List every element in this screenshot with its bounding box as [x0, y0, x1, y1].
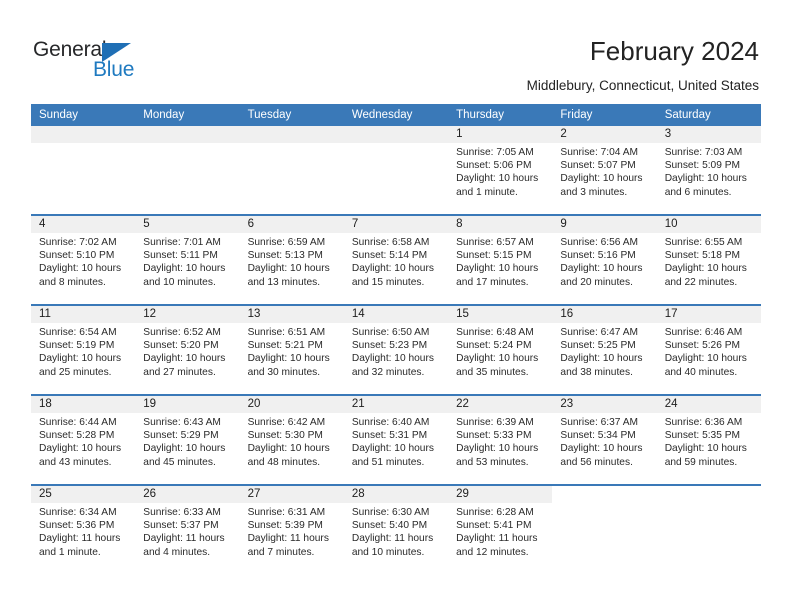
- calendar-cell[interactable]: 7 Sunrise: 6:58 AM Sunset: 5:14 PM Dayli…: [344, 215, 448, 305]
- sunset-text: Sunset: 5:21 PM: [248, 339, 338, 352]
- day-number: 18: [31, 396, 135, 413]
- calendar-cell[interactable]: 28 Sunrise: 6:30 AM Sunset: 5:40 PM Dayl…: [344, 485, 448, 574]
- day-cell: 10 Sunrise: 6:55 AM Sunset: 5:18 PM Dayl…: [657, 216, 761, 304]
- daylight-text-line2: and 35 minutes.: [456, 366, 546, 379]
- day-cell: 21 Sunrise: 6:40 AM Sunset: 5:31 PM Dayl…: [344, 396, 448, 484]
- day-cell: 14 Sunrise: 6:50 AM Sunset: 5:23 PM Dayl…: [344, 306, 448, 394]
- sunrise-text: Sunrise: 6:37 AM: [560, 416, 650, 429]
- daylight-text-line1: Daylight: 10 hours: [456, 262, 546, 275]
- day-cell: 1 Sunrise: 7:05 AM Sunset: 5:06 PM Dayli…: [448, 126, 552, 214]
- day-info: Sunrise: 6:52 AM Sunset: 5:20 PM Dayligh…: [135, 323, 239, 379]
- day-number: 13: [240, 306, 344, 323]
- sunset-text: Sunset: 5:20 PM: [143, 339, 233, 352]
- daylight-text-line2: and 17 minutes.: [456, 276, 546, 289]
- day-info: Sunrise: 6:48 AM Sunset: 5:24 PM Dayligh…: [448, 323, 552, 379]
- day-number: 16: [552, 306, 656, 323]
- day-cell: 27 Sunrise: 6:31 AM Sunset: 5:39 PM Dayl…: [240, 486, 344, 574]
- daylight-text-line1: Daylight: 10 hours: [39, 352, 129, 365]
- day-number: 22: [448, 396, 552, 413]
- sunset-text: Sunset: 5:33 PM: [456, 429, 546, 442]
- calendar-cell[interactable]: 16 Sunrise: 6:47 AM Sunset: 5:25 PM Dayl…: [552, 305, 656, 395]
- daylight-text-line1: Daylight: 11 hours: [39, 532, 129, 545]
- daylight-text-line2: and 40 minutes.: [665, 366, 755, 379]
- sunset-text: Sunset: 5:41 PM: [456, 519, 546, 532]
- daylight-text-line1: Daylight: 10 hours: [665, 172, 755, 185]
- sunset-text: Sunset: 5:10 PM: [39, 249, 129, 262]
- calendar-cell[interactable]: 24 Sunrise: 6:36 AM Sunset: 5:35 PM Dayl…: [657, 395, 761, 485]
- daylight-text-line1: Daylight: 11 hours: [248, 532, 338, 545]
- calendar-cell[interactable]: 18 Sunrise: 6:44 AM Sunset: 5:28 PM Dayl…: [31, 395, 135, 485]
- daylight-text-line2: and 15 minutes.: [352, 276, 442, 289]
- calendar-cell[interactable]: 26 Sunrise: 6:33 AM Sunset: 5:37 PM Dayl…: [135, 485, 239, 574]
- weekday-header-thursday: Thursday: [448, 104, 552, 126]
- sunrise-text: Sunrise: 6:54 AM: [39, 326, 129, 339]
- calendar-cell[interactable]: 10 Sunrise: 6:55 AM Sunset: 5:18 PM Dayl…: [657, 215, 761, 305]
- daylight-text-line1: Daylight: 10 hours: [456, 172, 546, 185]
- day-cell: 13 Sunrise: 6:51 AM Sunset: 5:21 PM Dayl…: [240, 306, 344, 394]
- day-cell: 22 Sunrise: 6:39 AM Sunset: 5:33 PM Dayl…: [448, 396, 552, 484]
- sunrise-text: Sunrise: 7:03 AM: [665, 146, 755, 159]
- day-cell-empty: [31, 126, 135, 214]
- sunset-text: Sunset: 5:14 PM: [352, 249, 442, 262]
- day-number: 29: [448, 486, 552, 503]
- day-info: Sunrise: 6:42 AM Sunset: 5:30 PM Dayligh…: [240, 413, 344, 469]
- day-info: Sunrise: 7:04 AM Sunset: 5:07 PM Dayligh…: [552, 143, 656, 199]
- day-cell: 4 Sunrise: 7:02 AM Sunset: 5:10 PM Dayli…: [31, 216, 135, 304]
- sunset-text: Sunset: 5:29 PM: [143, 429, 233, 442]
- sunrise-text: Sunrise: 6:28 AM: [456, 506, 546, 519]
- day-number: [135, 126, 239, 143]
- daylight-text-line2: and 25 minutes.: [39, 366, 129, 379]
- calendar-cell[interactable]: 29 Sunrise: 6:28 AM Sunset: 5:41 PM Dayl…: [448, 485, 552, 574]
- sunset-text: Sunset: 5:36 PM: [39, 519, 129, 532]
- sunrise-text: Sunrise: 6:46 AM: [665, 326, 755, 339]
- day-info: Sunrise: 6:57 AM Sunset: 5:15 PM Dayligh…: [448, 233, 552, 289]
- day-cell: 9 Sunrise: 6:56 AM Sunset: 5:16 PM Dayli…: [552, 216, 656, 304]
- daylight-text-line2: and 4 minutes.: [143, 546, 233, 559]
- page-header: General Blue February 2024 Middlebury, C…: [0, 0, 792, 100]
- calendar-cell[interactable]: [552, 485, 656, 574]
- sunrise-text: Sunrise: 6:34 AM: [39, 506, 129, 519]
- sunrise-text: Sunrise: 6:50 AM: [352, 326, 442, 339]
- sunset-text: Sunset: 5:35 PM: [665, 429, 755, 442]
- calendar-cell[interactable]: [344, 126, 448, 215]
- calendar-cell[interactable]: 6 Sunrise: 6:59 AM Sunset: 5:13 PM Dayli…: [240, 215, 344, 305]
- daylight-text-line1: Daylight: 10 hours: [665, 262, 755, 275]
- sunset-text: Sunset: 5:28 PM: [39, 429, 129, 442]
- day-cell: 3 Sunrise: 7:03 AM Sunset: 5:09 PM Dayli…: [657, 126, 761, 214]
- day-cell: 6 Sunrise: 6:59 AM Sunset: 5:13 PM Dayli…: [240, 216, 344, 304]
- day-cell: 28 Sunrise: 6:30 AM Sunset: 5:40 PM Dayl…: [344, 486, 448, 574]
- day-number: 24: [657, 396, 761, 413]
- weekday-header-wednesday: Wednesday: [344, 104, 448, 126]
- daylight-text-line1: Daylight: 11 hours: [456, 532, 546, 545]
- day-number: 3: [657, 126, 761, 143]
- sunset-text: Sunset: 5:13 PM: [248, 249, 338, 262]
- sunset-text: Sunset: 5:19 PM: [39, 339, 129, 352]
- sunrise-text: Sunrise: 6:30 AM: [352, 506, 442, 519]
- daylight-text-line2: and 8 minutes.: [39, 276, 129, 289]
- day-number: 21: [344, 396, 448, 413]
- daylight-text-line1: Daylight: 11 hours: [352, 532, 442, 545]
- weekday-header-saturday: Saturday: [657, 104, 761, 126]
- sunset-text: Sunset: 5:09 PM: [665, 159, 755, 172]
- day-info: Sunrise: 6:44 AM Sunset: 5:28 PM Dayligh…: [31, 413, 135, 469]
- sunset-text: Sunset: 5:31 PM: [352, 429, 442, 442]
- daylight-text-line1: Daylight: 10 hours: [352, 262, 442, 275]
- day-info: Sunrise: 6:58 AM Sunset: 5:14 PM Dayligh…: [344, 233, 448, 289]
- day-cell: 16 Sunrise: 6:47 AM Sunset: 5:25 PM Dayl…: [552, 306, 656, 394]
- day-cell-blank: [657, 486, 761, 574]
- day-info: Sunrise: 6:40 AM Sunset: 5:31 PM Dayligh…: [344, 413, 448, 469]
- daylight-text-line2: and 3 minutes.: [560, 186, 650, 199]
- weekday-header-friday: Friday: [552, 104, 656, 126]
- weekday-header-row: Sunday Monday Tuesday Wednesday Thursday…: [31, 104, 761, 126]
- daylight-text-line2: and 32 minutes.: [352, 366, 442, 379]
- sunrise-text: Sunrise: 6:47 AM: [560, 326, 650, 339]
- calendar-cell[interactable]: 2 Sunrise: 7:04 AM Sunset: 5:07 PM Dayli…: [552, 126, 656, 215]
- daylight-text-line2: and 38 minutes.: [560, 366, 650, 379]
- calendar-cell[interactable]: 13 Sunrise: 6:51 AM Sunset: 5:21 PM Dayl…: [240, 305, 344, 395]
- day-info: Sunrise: 7:01 AM Sunset: 5:11 PM Dayligh…: [135, 233, 239, 289]
- calendar-cell[interactable]: 12 Sunrise: 6:52 AM Sunset: 5:20 PM Dayl…: [135, 305, 239, 395]
- daylight-text-line1: Daylight: 11 hours: [143, 532, 233, 545]
- day-info: Sunrise: 7:02 AM Sunset: 5:10 PM Dayligh…: [31, 233, 135, 289]
- calendar-cell[interactable]: 21 Sunrise: 6:40 AM Sunset: 5:31 PM Dayl…: [344, 395, 448, 485]
- calendar-cell[interactable]: 1 Sunrise: 7:05 AM Sunset: 5:06 PM Dayli…: [448, 126, 552, 215]
- sunrise-text: Sunrise: 6:57 AM: [456, 236, 546, 249]
- daylight-text-line1: Daylight: 10 hours: [39, 442, 129, 455]
- day-info: Sunrise: 6:55 AM Sunset: 5:18 PM Dayligh…: [657, 233, 761, 289]
- daylight-text-line2: and 10 minutes.: [352, 546, 442, 559]
- sunset-text: Sunset: 5:26 PM: [665, 339, 755, 352]
- calendar-cell[interactable]: 22 Sunrise: 6:39 AM Sunset: 5:33 PM Dayl…: [448, 395, 552, 485]
- day-number: 7: [344, 216, 448, 233]
- day-cell: 18 Sunrise: 6:44 AM Sunset: 5:28 PM Dayl…: [31, 396, 135, 484]
- daylight-text-line2: and 1 minute.: [39, 546, 129, 559]
- daylight-text-line2: and 13 minutes.: [248, 276, 338, 289]
- day-cell: 26 Sunrise: 6:33 AM Sunset: 5:37 PM Dayl…: [135, 486, 239, 574]
- day-number: 2: [552, 126, 656, 143]
- calendar-week-row: 4 Sunrise: 7:02 AM Sunset: 5:10 PM Dayli…: [31, 215, 761, 305]
- sunset-text: Sunset: 5:16 PM: [560, 249, 650, 262]
- daylight-text-line2: and 56 minutes.: [560, 456, 650, 469]
- sunrise-text: Sunrise: 6:56 AM: [560, 236, 650, 249]
- sunrise-text: Sunrise: 6:33 AM: [143, 506, 233, 519]
- daylight-text-line2: and 20 minutes.: [560, 276, 650, 289]
- daylight-text-line1: Daylight: 10 hours: [456, 442, 546, 455]
- daylight-text-line2: and 27 minutes.: [143, 366, 233, 379]
- calendar-cell[interactable]: 5 Sunrise: 7:01 AM Sunset: 5:11 PM Dayli…: [135, 215, 239, 305]
- calendar-week-row: 11 Sunrise: 6:54 AM Sunset: 5:19 PM Dayl…: [31, 305, 761, 395]
- day-number: 25: [31, 486, 135, 503]
- calendar-cell[interactable]: 4 Sunrise: 7:02 AM Sunset: 5:10 PM Dayli…: [31, 215, 135, 305]
- daylight-text-line1: Daylight: 10 hours: [560, 172, 650, 185]
- calendar-week-row: 1 Sunrise: 7:05 AM Sunset: 5:06 PM Dayli…: [31, 126, 761, 215]
- day-cell: 17 Sunrise: 6:46 AM Sunset: 5:26 PM Dayl…: [657, 306, 761, 394]
- calendar-week-row: 25 Sunrise: 6:34 AM Sunset: 5:36 PM Dayl…: [31, 485, 761, 574]
- sunset-text: Sunset: 5:15 PM: [456, 249, 546, 262]
- sunset-text: Sunset: 5:24 PM: [456, 339, 546, 352]
- day-info: Sunrise: 6:34 AM Sunset: 5:36 PM Dayligh…: [31, 503, 135, 559]
- day-number: 19: [135, 396, 239, 413]
- day-number: 26: [135, 486, 239, 503]
- sunrise-text: Sunrise: 6:39 AM: [456, 416, 546, 429]
- daylight-text-line2: and 1 minute.: [456, 186, 546, 199]
- sunset-text: Sunset: 5:37 PM: [143, 519, 233, 532]
- daylight-text-line1: Daylight: 10 hours: [560, 352, 650, 365]
- daylight-text-line2: and 30 minutes.: [248, 366, 338, 379]
- day-cell: 25 Sunrise: 6:34 AM Sunset: 5:36 PM Dayl…: [31, 486, 135, 574]
- day-info: Sunrise: 7:05 AM Sunset: 5:06 PM Dayligh…: [448, 143, 552, 199]
- day-info: Sunrise: 6:37 AM Sunset: 5:34 PM Dayligh…: [552, 413, 656, 469]
- daylight-text-line2: and 48 minutes.: [248, 456, 338, 469]
- daylight-text-line2: and 59 minutes.: [665, 456, 755, 469]
- daylight-text-line1: Daylight: 10 hours: [665, 442, 755, 455]
- sunrise-text: Sunrise: 7:05 AM: [456, 146, 546, 159]
- daylight-text-line1: Daylight: 10 hours: [560, 262, 650, 275]
- day-info: Sunrise: 6:30 AM Sunset: 5:40 PM Dayligh…: [344, 503, 448, 559]
- sunset-text: Sunset: 5:07 PM: [560, 159, 650, 172]
- day-number: 12: [135, 306, 239, 323]
- sunrise-text: Sunrise: 6:51 AM: [248, 326, 338, 339]
- day-info: Sunrise: 6:36 AM Sunset: 5:35 PM Dayligh…: [657, 413, 761, 469]
- day-number: 23: [552, 396, 656, 413]
- day-number: 8: [448, 216, 552, 233]
- day-cell: 8 Sunrise: 6:57 AM Sunset: 5:15 PM Dayli…: [448, 216, 552, 304]
- sunrise-text: Sunrise: 6:42 AM: [248, 416, 338, 429]
- day-info: Sunrise: 6:31 AM Sunset: 5:39 PM Dayligh…: [240, 503, 344, 559]
- day-number: 14: [344, 306, 448, 323]
- logo-text-blue: Blue: [93, 58, 134, 82]
- daylight-text-line2: and 10 minutes.: [143, 276, 233, 289]
- day-info: Sunrise: 6:56 AM Sunset: 5:16 PM Dayligh…: [552, 233, 656, 289]
- sunset-text: Sunset: 5:40 PM: [352, 519, 442, 532]
- daylight-text-line1: Daylight: 10 hours: [665, 352, 755, 365]
- day-cell-empty: [240, 126, 344, 214]
- sunset-text: Sunset: 5:30 PM: [248, 429, 338, 442]
- weekday-header-tuesday: Tuesday: [240, 104, 344, 126]
- day-number: 1: [448, 126, 552, 143]
- day-info: Sunrise: 6:47 AM Sunset: 5:25 PM Dayligh…: [552, 323, 656, 379]
- sunrise-text: Sunrise: 6:52 AM: [143, 326, 233, 339]
- calendar-cell[interactable]: 20 Sunrise: 6:42 AM Sunset: 5:30 PM Dayl…: [240, 395, 344, 485]
- calendar-page: General Blue February 2024 Middlebury, C…: [0, 0, 792, 612]
- daylight-text-line1: Daylight: 10 hours: [248, 352, 338, 365]
- sunrise-text: Sunrise: 6:59 AM: [248, 236, 338, 249]
- day-info: Sunrise: 6:43 AM Sunset: 5:29 PM Dayligh…: [135, 413, 239, 469]
- daylight-text-line1: Daylight: 10 hours: [352, 442, 442, 455]
- day-info: Sunrise: 6:39 AM Sunset: 5:33 PM Dayligh…: [448, 413, 552, 469]
- day-number: 27: [240, 486, 344, 503]
- day-cell-empty: [344, 126, 448, 214]
- day-cell: 15 Sunrise: 6:48 AM Sunset: 5:24 PM Dayl…: [448, 306, 552, 394]
- daylight-text-line1: Daylight: 10 hours: [143, 442, 233, 455]
- day-number: 9: [552, 216, 656, 233]
- day-info: Sunrise: 6:50 AM Sunset: 5:23 PM Dayligh…: [344, 323, 448, 379]
- daylight-text-line1: Daylight: 10 hours: [248, 262, 338, 275]
- sunset-text: Sunset: 5:25 PM: [560, 339, 650, 352]
- calendar-cell[interactable]: [135, 126, 239, 215]
- day-info: Sunrise: 6:28 AM Sunset: 5:41 PM Dayligh…: [448, 503, 552, 559]
- calendar-body: 1 Sunrise: 7:05 AM Sunset: 5:06 PM Dayli…: [31, 126, 761, 574]
- sunset-text: Sunset: 5:18 PM: [665, 249, 755, 262]
- sunrise-text: Sunrise: 6:58 AM: [352, 236, 442, 249]
- sunset-text: Sunset: 5:34 PM: [560, 429, 650, 442]
- sunset-text: Sunset: 5:23 PM: [352, 339, 442, 352]
- day-cell: 23 Sunrise: 6:37 AM Sunset: 5:34 PM Dayl…: [552, 396, 656, 484]
- day-cell: 11 Sunrise: 6:54 AM Sunset: 5:19 PM Dayl…: [31, 306, 135, 394]
- daylight-text-line1: Daylight: 10 hours: [143, 352, 233, 365]
- day-number: 10: [657, 216, 761, 233]
- day-cell: 29 Sunrise: 6:28 AM Sunset: 5:41 PM Dayl…: [448, 486, 552, 574]
- daylight-text-line2: and 6 minutes.: [665, 186, 755, 199]
- sunset-text: Sunset: 5:39 PM: [248, 519, 338, 532]
- calendar-cell[interactable]: 23 Sunrise: 6:37 AM Sunset: 5:34 PM Dayl…: [552, 395, 656, 485]
- calendar-cell[interactable]: [31, 126, 135, 215]
- day-cell-blank: [552, 486, 656, 574]
- sunrise-text: Sunrise: 6:55 AM: [665, 236, 755, 249]
- day-cell: 5 Sunrise: 7:01 AM Sunset: 5:11 PM Dayli…: [135, 216, 239, 304]
- calendar-cell[interactable]: 8 Sunrise: 6:57 AM Sunset: 5:15 PM Dayli…: [448, 215, 552, 305]
- sunrise-text: Sunrise: 6:31 AM: [248, 506, 338, 519]
- calendar-cell[interactable]: 27 Sunrise: 6:31 AM Sunset: 5:39 PM Dayl…: [240, 485, 344, 574]
- calendar-cell[interactable]: 25 Sunrise: 6:34 AM Sunset: 5:36 PM Dayl…: [31, 485, 135, 574]
- sunrise-text: Sunrise: 6:48 AM: [456, 326, 546, 339]
- daylight-text-line2: and 43 minutes.: [39, 456, 129, 469]
- daylight-text-line2: and 53 minutes.: [456, 456, 546, 469]
- day-number: 28: [344, 486, 448, 503]
- day-number: 6: [240, 216, 344, 233]
- day-number: 20: [240, 396, 344, 413]
- weekday-header-sunday: Sunday: [31, 104, 135, 126]
- day-cell: 24 Sunrise: 6:36 AM Sunset: 5:35 PM Dayl…: [657, 396, 761, 484]
- day-cell: 7 Sunrise: 6:58 AM Sunset: 5:14 PM Dayli…: [344, 216, 448, 304]
- day-number: 11: [31, 306, 135, 323]
- sunrise-text: Sunrise: 7:02 AM: [39, 236, 129, 249]
- day-cell-empty: [135, 126, 239, 214]
- day-number: 5: [135, 216, 239, 233]
- sunrise-text: Sunrise: 7:01 AM: [143, 236, 233, 249]
- daylight-text-line1: Daylight: 10 hours: [352, 352, 442, 365]
- calendar-cell[interactable]: 9 Sunrise: 6:56 AM Sunset: 5:16 PM Dayli…: [552, 215, 656, 305]
- day-number: [344, 126, 448, 143]
- sunset-text: Sunset: 5:06 PM: [456, 159, 546, 172]
- daylight-text-line2: and 45 minutes.: [143, 456, 233, 469]
- daylight-text-line2: and 22 minutes.: [665, 276, 755, 289]
- day-info: Sunrise: 6:54 AM Sunset: 5:19 PM Dayligh…: [31, 323, 135, 379]
- day-number: 4: [31, 216, 135, 233]
- day-cell: 12 Sunrise: 6:52 AM Sunset: 5:20 PM Dayl…: [135, 306, 239, 394]
- sunrise-text: Sunrise: 7:04 AM: [560, 146, 650, 159]
- calendar-cell[interactable]: [657, 485, 761, 574]
- calendar-cell[interactable]: 11 Sunrise: 6:54 AM Sunset: 5:19 PM Dayl…: [31, 305, 135, 395]
- daylight-text-line1: Daylight: 10 hours: [143, 262, 233, 275]
- day-info: Sunrise: 6:46 AM Sunset: 5:26 PM Dayligh…: [657, 323, 761, 379]
- calendar-cell[interactable]: 14 Sunrise: 6:50 AM Sunset: 5:23 PM Dayl…: [344, 305, 448, 395]
- day-number: 17: [657, 306, 761, 323]
- day-info: Sunrise: 6:59 AM Sunset: 5:13 PM Dayligh…: [240, 233, 344, 289]
- calendar-cell[interactable]: 19 Sunrise: 6:43 AM Sunset: 5:29 PM Dayl…: [135, 395, 239, 485]
- sunrise-text: Sunrise: 6:43 AM: [143, 416, 233, 429]
- daylight-text-line1: Daylight: 10 hours: [456, 352, 546, 365]
- daylight-text-line2: and 12 minutes.: [456, 546, 546, 559]
- calendar-cell[interactable]: 15 Sunrise: 6:48 AM Sunset: 5:24 PM Dayl…: [448, 305, 552, 395]
- day-info: Sunrise: 6:33 AM Sunset: 5:37 PM Dayligh…: [135, 503, 239, 559]
- day-cell: 20 Sunrise: 6:42 AM Sunset: 5:30 PM Dayl…: [240, 396, 344, 484]
- general-blue-logo: General Blue: [33, 38, 153, 84]
- calendar-week-row: 18 Sunrise: 6:44 AM Sunset: 5:28 PM Dayl…: [31, 395, 761, 485]
- sunrise-text: Sunrise: 6:36 AM: [665, 416, 755, 429]
- page-subtitle: Middlebury, Connecticut, United States: [527, 78, 759, 93]
- daylight-text-line1: Daylight: 10 hours: [39, 262, 129, 275]
- day-info: Sunrise: 7:03 AM Sunset: 5:09 PM Dayligh…: [657, 143, 761, 199]
- day-number: 15: [448, 306, 552, 323]
- daylight-text-line2: and 51 minutes.: [352, 456, 442, 469]
- sunset-text: Sunset: 5:11 PM: [143, 249, 233, 262]
- sunrise-text: Sunrise: 6:40 AM: [352, 416, 442, 429]
- daylight-text-line1: Daylight: 10 hours: [248, 442, 338, 455]
- sunrise-text: Sunrise: 6:44 AM: [39, 416, 129, 429]
- day-number: [31, 126, 135, 143]
- daylight-text-line2: and 7 minutes.: [248, 546, 338, 559]
- day-cell: 19 Sunrise: 6:43 AM Sunset: 5:29 PM Dayl…: [135, 396, 239, 484]
- day-cell: 2 Sunrise: 7:04 AM Sunset: 5:07 PM Dayli…: [552, 126, 656, 214]
- day-number: [240, 126, 344, 143]
- calendar-cell[interactable]: [240, 126, 344, 215]
- day-info: Sunrise: 6:51 AM Sunset: 5:21 PM Dayligh…: [240, 323, 344, 379]
- daylight-text-line1: Daylight: 10 hours: [560, 442, 650, 455]
- page-title: February 2024: [590, 36, 759, 67]
- calendar-cell[interactable]: 17 Sunrise: 6:46 AM Sunset: 5:26 PM Dayl…: [657, 305, 761, 395]
- sunrise-sunset-calendar: Sunday Monday Tuesday Wednesday Thursday…: [31, 104, 761, 574]
- calendar-cell[interactable]: 3 Sunrise: 7:03 AM Sunset: 5:09 PM Dayli…: [657, 126, 761, 215]
- weekday-header-monday: Monday: [135, 104, 239, 126]
